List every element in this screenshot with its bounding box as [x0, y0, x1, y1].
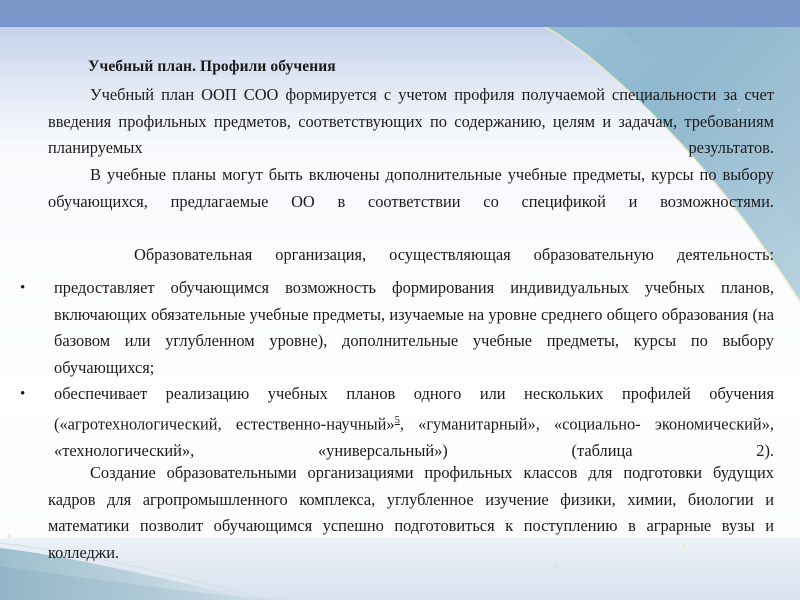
paragraph-1-text: Учебный план ООП СОО формируется с учето…	[48, 82, 774, 162]
list-item: • обеспечивает реализацию учебных планов…	[14, 381, 774, 464]
paragraph-3-text: Образовательная организация, осуществляю…	[48, 242, 774, 269]
list-item-text: обеспечивает реализацию учебных планов о…	[54, 381, 774, 464]
paragraph-4: Создание образовательными организациями …	[48, 460, 774, 566]
presentation-slide: Учебный план. Профили обучения Учебный п…	[0, 0, 800, 600]
paragraph-4-text: Создание образовательными организациями …	[48, 460, 774, 566]
slide-content: Учебный план. Профили обучения Учебный п…	[0, 0, 800, 600]
paragraph-1: Учебный план ООП СОО формируется с учето…	[48, 82, 774, 162]
list-item-text: предоставляет обучающимся возможность фо…	[54, 275, 774, 381]
bullet-marker-icon: •	[14, 275, 54, 302]
paragraph-2-text: В учебные планы могут быть включены допо…	[48, 162, 774, 215]
bullet-marker-icon: •	[14, 381, 54, 408]
paragraph-2: В учебные планы могут быть включены допо…	[48, 162, 774, 215]
paragraph-3: Образовательная организация, осуществляю…	[48, 242, 774, 269]
list-item: • предоставляет обучающимся возможность …	[14, 275, 774, 381]
slide-title: Учебный план. Профили обучения	[88, 58, 336, 76]
